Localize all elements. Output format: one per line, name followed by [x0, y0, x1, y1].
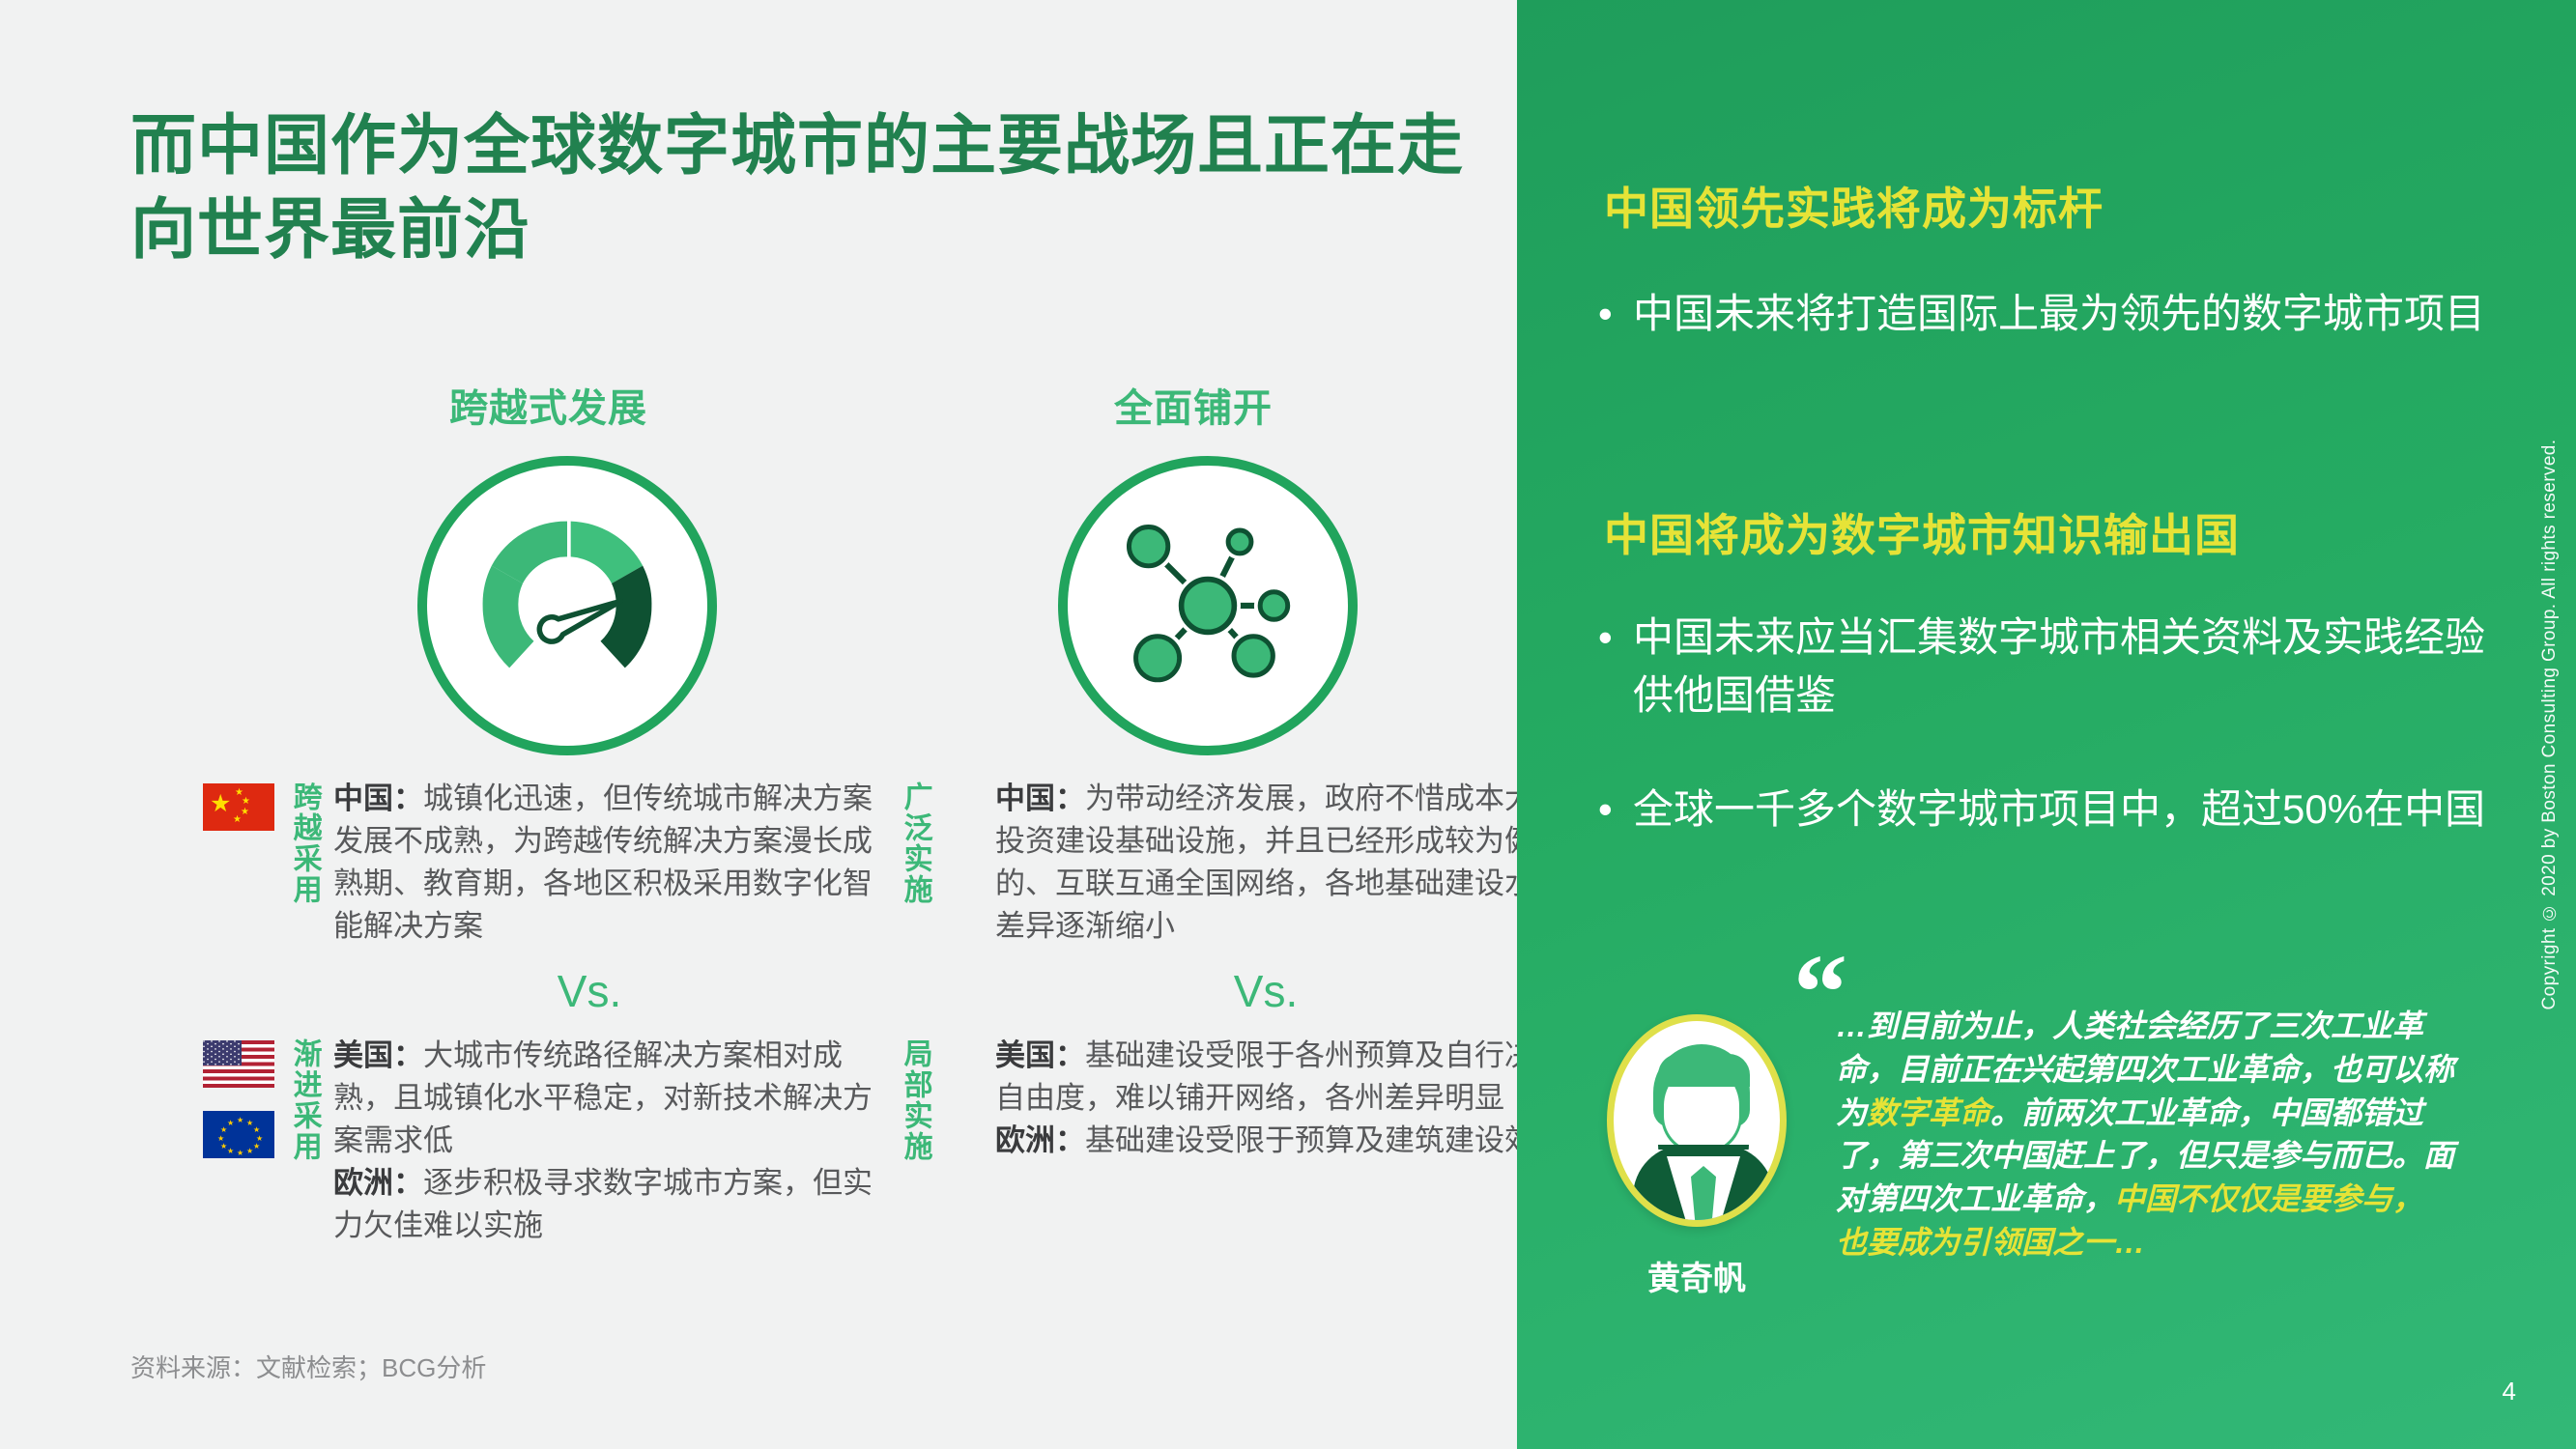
eu-star: ★	[237, 1117, 243, 1124]
right-bullet-3: • 全球一千多个数字城市项目中，超过50%在中国	[1598, 781, 2487, 838]
row-lead-usa-a: 美国：	[333, 1038, 423, 1072]
column-header-leapfrog: 跨越式发展	[449, 377, 647, 433]
network-icon	[1094, 492, 1322, 720]
flag-star-small: ★	[241, 808, 249, 817]
row-body-text-china-b: 中国：为带动经济发展，政府不惜成本大量投资建设基础设施，并且已经形成较为健全的、…	[995, 778, 1575, 948]
flag-usa-icon	[203, 1040, 274, 1088]
flag-star-small: ★	[233, 815, 242, 825]
comparison-row-china-b: 广泛实施 中国：为带动经济发展，政府不惜成本大量投资建设基础设施，并且已经形成较…	[899, 778, 1575, 948]
flag-china-icon: ★ ★ ★ ★ ★	[203, 783, 274, 831]
row-body-text-west-a: 美国：大城市传统路径解决方案相对成熟，且城镇化水平稳定，对新技术解决方案需求低 …	[333, 1035, 879, 1247]
comparison-block-leapfrog: ★ ★ ★ ★ ★ 跨越采用 中国：城镇化迅速，但传统城市解决方案发展不成熟，为…	[203, 778, 879, 1247]
row-lead-usa-b: 美国：	[995, 1038, 1085, 1072]
right-bullet-1: • 中国未来将打造国际上最为领先的数字城市项目	[1598, 285, 2487, 343]
eu-star: ★	[217, 1135, 224, 1143]
row-gutter-b1: 广泛实施	[899, 778, 995, 905]
column-header-rollout: 全面铺开	[1114, 377, 1273, 433]
comparison-row-west-b: 局部实施 美国：基础建设受限于各州预算及自行决策自由度，难以铺开网络，各州差异明…	[899, 1035, 1575, 1162]
quote-author-name: 黄奇帆	[1596, 1252, 1797, 1299]
row-vertical-label-leapfrog-adoption: 跨越采用	[288, 781, 321, 905]
flag-stack-china: ★ ★ ★ ★ ★	[203, 781, 274, 831]
row-body-text-west-b: 美国：基础建设受限于各州预算及自行决策自由度，难以铺开网络，各州差异明显 欧洲：…	[995, 1035, 1575, 1162]
eu-star: ★	[253, 1126, 260, 1134]
flag-eu-icon: ★ ★ ★ ★ ★ ★ ★ ★ ★ ★ ★ ★	[203, 1111, 274, 1158]
right-bullet-2: • 中国未来应当汇集数字城市相关资料及实践经验供他国借鉴	[1598, 609, 2487, 724]
eu-star: ★	[227, 1148, 234, 1155]
row-gutter-b2: 局部实施	[899, 1035, 995, 1162]
flag-stack-west: ★ ★ ★ ★ ★ ★ ★ ★ ★ ★ ★ ★	[203, 1038, 274, 1158]
page-number: 4	[2503, 1377, 2516, 1406]
row-lead-eu-b: 欧洲：	[995, 1123, 1085, 1157]
quote-highlight-1: 数字革命	[1867, 1095, 1990, 1130]
avatar-fringe-shape	[1658, 1054, 1750, 1087]
row-lead-china-b: 中国：	[995, 781, 1085, 815]
copyright-notice: Copyright © 2020 by Boston Consulting Gr…	[2539, 440, 2561, 1010]
comparison-row-china-a: ★ ★ ★ ★ ★ 跨越采用 中国：城镇化迅速，但传统城市解决方案发展不成熟，为…	[203, 778, 879, 948]
bullet-dot-icon: •	[1598, 781, 1616, 838]
avatar	[1607, 1014, 1787, 1227]
eu-star: ★	[246, 1148, 253, 1155]
gauge-icon	[456, 495, 678, 717]
row-lead-eu-a: 欧洲：	[333, 1166, 423, 1200]
divider-vs-a: Vs.	[203, 965, 879, 1017]
bullet-dot-icon: •	[1598, 285, 1616, 343]
eu-star: ★	[220, 1126, 227, 1134]
right-heading-knowledge-export: 中国将成为数字城市知识输出国	[1604, 500, 2503, 564]
row-vertical-label-broad-implementation: 广泛实施	[899, 781, 931, 905]
flag-canton	[203, 1040, 242, 1065]
page-title: 而中国作为全球数字城市的主要战场且正在走向世界最前沿	[130, 104, 1503, 272]
row-vertical-label-local-implementation: 局部实施	[899, 1038, 931, 1162]
row-gutter-a1: ★ ★ ★ ★ ★ 跨越采用	[203, 778, 333, 905]
quote-avatar-container	[1607, 1014, 1787, 1227]
right-bullet-2-text: 中国未来应当汇集数字城市相关资料及实践经验供他国借鉴	[1633, 609, 2487, 724]
bullet-dot-icon: •	[1598, 609, 1616, 724]
comparison-row-west-a: ★ ★ ★ ★ ★ ★ ★ ★ ★ ★ ★ ★	[203, 1035, 879, 1247]
divider-vs-b: Vs.	[899, 965, 1575, 1017]
right-bullet-1-text: 中国未来将打造国际上最为领先的数字城市项目	[1633, 285, 2485, 343]
left-content-panel: 而中国作为全球数字城市的主要战场且正在走向世界最前沿 跨越式发展 全面铺开	[0, 0, 1517, 1449]
source-note: 资料来源：文献检索；BCG分析	[130, 1349, 486, 1384]
eu-star: ★	[237, 1150, 243, 1157]
network-icon-container	[1058, 456, 1358, 755]
eu-star: ★	[220, 1143, 227, 1151]
row-detail-eu-b: 基础建设受限于预算及建筑建设效率	[1085, 1123, 1564, 1157]
row-body-text-china-a: 中国：城镇化迅速，但传统城市解决方案发展不成熟，为跨越传统解决方案漫长成熟期、教…	[333, 778, 879, 948]
row-vertical-label-gradual-adoption: 渐进采用	[288, 1038, 321, 1162]
right-bullet-3-text: 全球一千多个数字城市项目中，超过50%在中国	[1633, 781, 2485, 838]
comparison-block-rollout: 广泛实施 中国：为带动经济发展，政府不惜成本大量投资建设基础设施，并且已经形成较…	[899, 778, 1575, 1162]
row-lead-china-a: 中国：	[333, 781, 423, 815]
flag-star-large: ★	[210, 792, 231, 816]
flag-star-small: ★	[242, 797, 250, 807]
eu-star: ★	[227, 1120, 234, 1127]
gauge-icon-container	[417, 456, 717, 755]
right-heading-benchmark: 中国领先实践将成为标杆	[1604, 174, 2503, 238]
eu-star: ★	[253, 1143, 260, 1151]
quote-text: …到目前为止，人类社会经历了三次工业革命，目前正在兴起第四次工业革命，也可以称为…	[1836, 1005, 2454, 1264]
row-gutter-a2: ★ ★ ★ ★ ★ ★ ★ ★ ★ ★ ★ ★	[203, 1035, 333, 1162]
slide-root: 而中国作为全球数字城市的主要战场且正在走向世界最前沿 跨越式发展 全面铺开	[0, 0, 2576, 1449]
